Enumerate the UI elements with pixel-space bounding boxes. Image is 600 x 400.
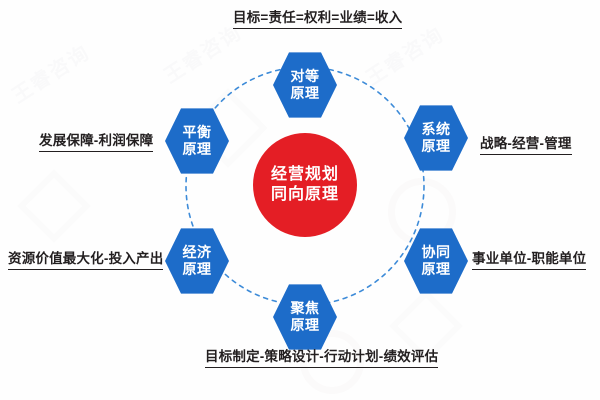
node-jujiao-line2: 原理: [291, 317, 320, 334]
node-duideng[interactable]: 对等 原理: [273, 51, 337, 119]
watermark: 王睿咨询: [5, 36, 95, 108]
node-pingheng-line1: 平衡: [183, 124, 212, 141]
node-jujiao-line1: 聚焦: [291, 300, 320, 317]
node-jujiao[interactable]: 聚焦 原理: [273, 283, 337, 351]
node-xietong[interactable]: 协同 原理: [404, 227, 468, 295]
center-node-line1: 经营规划: [271, 165, 339, 185]
node-xietong-line2: 原理: [422, 261, 451, 278]
diagram-canvas: 王睿咨询 王睿咨询 王睿咨询 经营规划 同向原理 对等 原理 系统 原理 协同 …: [0, 0, 600, 400]
label-jujiao: 目标制定-策略设计-行动计划-绩效评估: [205, 349, 438, 368]
node-jingji-line2: 原理: [183, 261, 212, 278]
center-node-line2: 同向原理: [271, 185, 339, 205]
node-xietong-line1: 协同: [422, 244, 451, 261]
node-pingheng-line2: 原理: [183, 141, 212, 158]
watermark: 王睿咨询: [359, 18, 449, 90]
label-jingji: 资源价值最大化-投入产出: [8, 251, 163, 270]
node-duideng-line2: 原理: [291, 85, 320, 102]
node-duideng-line1: 对等: [291, 68, 320, 85]
label-duideng: 目标=责任=权利=业绩=收入: [233, 10, 402, 29]
watermark-square: [17, 169, 91, 243]
node-xitong[interactable]: 系统 原理: [404, 104, 468, 172]
center-node[interactable]: 经营规划 同向原理: [253, 133, 357, 237]
label-xitong: 战略-经营-管理: [480, 136, 572, 155]
label-pingheng: 发展保障-利润保障: [39, 133, 153, 152]
node-pingheng[interactable]: 平衡 原理: [165, 107, 229, 175]
node-xitong-line2: 原理: [422, 138, 451, 155]
label-xietong: 事业单位-职能单位: [472, 251, 586, 270]
node-jingji-line1: 经济: [183, 244, 212, 261]
node-jingji[interactable]: 经济 原理: [165, 227, 229, 295]
node-xitong-line1: 系统: [422, 121, 451, 138]
